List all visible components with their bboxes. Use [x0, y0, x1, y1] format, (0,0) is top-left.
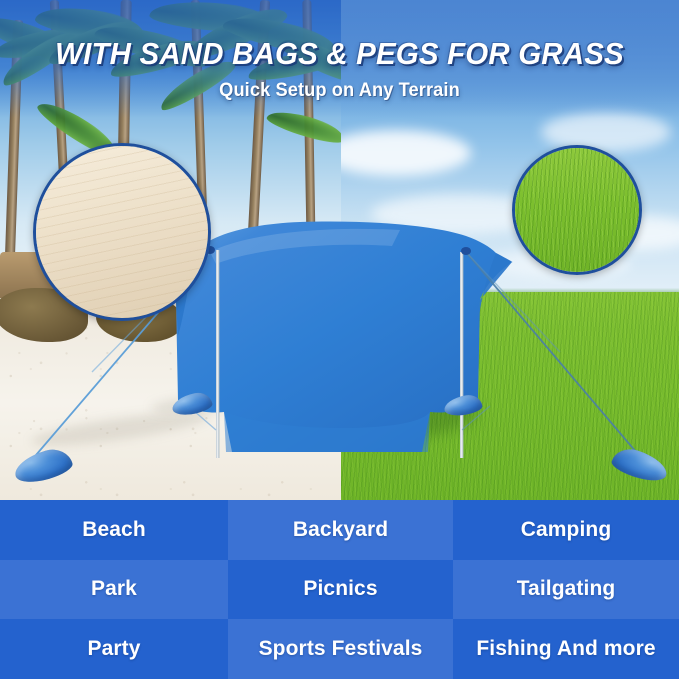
- use-case-cell-tailgating[interactable]: Tailgating: [453, 560, 679, 620]
- use-case-cell-fishing-and-more[interactable]: Fishing And more: [453, 619, 679, 679]
- use-case-cell-park[interactable]: Park: [0, 560, 228, 620]
- subtitle-text: Quick Setup on Any Terrain: [14, 80, 666, 102]
- use-case-cell-sports-festivals[interactable]: Sports Festivals: [228, 619, 453, 679]
- use-case-cell-backyard[interactable]: Backyard: [228, 500, 453, 560]
- inset-grass-peg-closeup: [512, 145, 642, 275]
- inset-sand-bag-closeup: [33, 143, 211, 321]
- use-case-cell-party[interactable]: Party: [0, 619, 228, 679]
- inset-sand-ripples: [36, 146, 208, 318]
- scene-photo-composite: WITH SAND BAGS & PEGS FOR GRASS Quick Se…: [0, 0, 679, 500]
- use-case-cell-beach[interactable]: Beach: [0, 500, 228, 560]
- inset-grass-texture: [515, 148, 639, 272]
- use-case-cell-camping[interactable]: Camping: [453, 500, 679, 560]
- use-case-cell-picnics[interactable]: Picnics: [228, 560, 453, 620]
- beach-bush: [212, 252, 272, 296]
- headline-text: WITH SAND BAGS & PEGS FOR GRASS: [17, 36, 662, 72]
- product-feature-image: WITH SAND BAGS & PEGS FOR GRASS Quick Se…: [0, 0, 679, 679]
- use-case-grid: Beach Backyard Camping Park Picnics Tail…: [0, 500, 679, 679]
